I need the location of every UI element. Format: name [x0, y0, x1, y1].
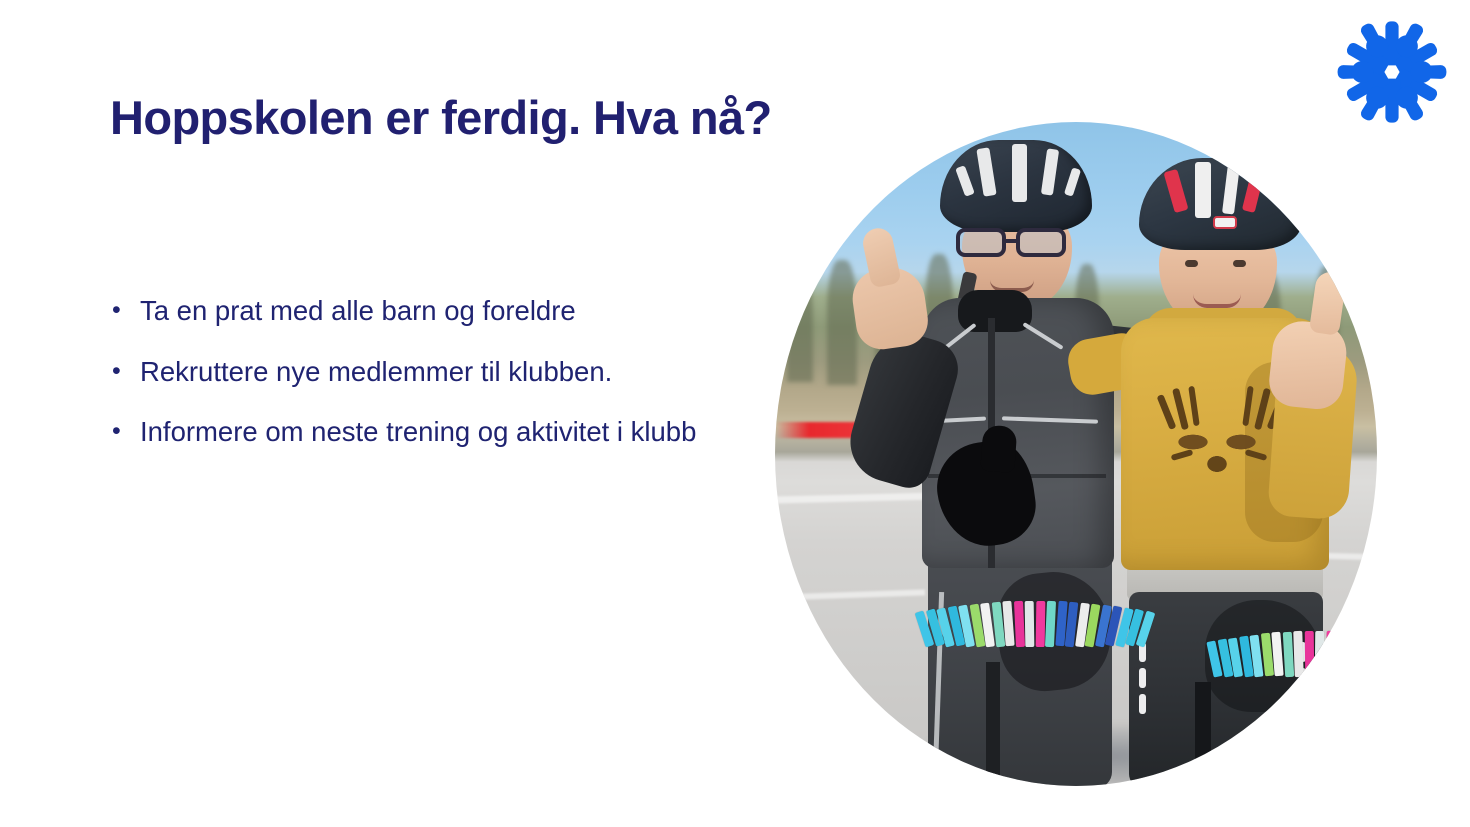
- boy-right-eye: [1185, 260, 1198, 267]
- boy-left-glasses: [954, 228, 1080, 258]
- list-item: • Rekruttere nye medlemmer til klubben.: [106, 355, 726, 390]
- glasses-bridge: [1006, 239, 1018, 243]
- pant-stripe: [1139, 668, 1146, 688]
- clothespin: [1045, 601, 1056, 647]
- helmet-red-accent: [1242, 167, 1265, 213]
- helmet-vent-stripe: [1195, 162, 1211, 218]
- list-item: • Ta en prat med alle barn og foreldre: [106, 294, 726, 329]
- bullet-marker-icon: •: [106, 415, 140, 448]
- helmet-vent-stripe: [976, 147, 996, 196]
- pant-stripe: [1299, 694, 1306, 714]
- list-item: • Informere om neste trening og aktivite…: [106, 415, 726, 450]
- helmet-vent-stripe: [1041, 148, 1059, 195]
- tree-silhouette: [787, 272, 813, 382]
- glasses-lens: [956, 228, 1006, 257]
- clothespin-belt-left: [920, 600, 1151, 647]
- photo-background: [775, 122, 1377, 786]
- clothespin: [1335, 631, 1346, 677]
- helmet-vent-stripe: [1012, 144, 1027, 202]
- clothespin: [1035, 601, 1045, 647]
- boy-right-eye: [1233, 260, 1246, 267]
- boy-right: [1085, 122, 1377, 786]
- boy-left-helmet: [940, 140, 1092, 232]
- helmet-vent-stripe: [955, 165, 975, 197]
- helmet-vent-stripe: [1222, 163, 1240, 214]
- clothespin-belt-right: [1210, 630, 1377, 677]
- helmet-vent-stripe: [1064, 167, 1081, 196]
- list-item-label: Informere om neste trening og aktivitet …: [140, 415, 726, 450]
- helmet-badge: [1213, 216, 1237, 229]
- clothespin: [1025, 601, 1035, 647]
- bullet-marker-icon: •: [106, 294, 140, 327]
- boy-right-legs-gap: [1195, 682, 1211, 786]
- clothespin: [1293, 631, 1304, 677]
- list-item-label: Rekruttere nye medlemmer til klubben.: [140, 355, 726, 390]
- clothespin: [1282, 631, 1293, 677]
- boy-left-legs-gap: [986, 662, 1000, 786]
- pant-stripe: [1139, 694, 1146, 714]
- snowflake-icon: [1326, 6, 1458, 138]
- clothespin: [1013, 601, 1024, 647]
- boy-right-smile: [1193, 294, 1241, 308]
- clothespin: [1304, 631, 1314, 677]
- list-item-label: Ta en prat med alle barn og foreldre: [140, 294, 726, 329]
- helmet-red-accent: [1163, 169, 1188, 213]
- bullet-marker-icon: •: [106, 355, 140, 388]
- bullet-list: • Ta en prat med alle barn og foreldre •…: [106, 294, 726, 450]
- boy-right-fist: [1267, 318, 1350, 411]
- clothespin: [1325, 631, 1336, 677]
- slide-canvas: Hoppskolen er ferdig. Hva nå? • Ta en pr…: [0, 0, 1470, 827]
- clothespin: [1315, 631, 1325, 677]
- two-children-thumbs-up-photo: [775, 122, 1377, 786]
- tree-silhouette: [827, 260, 857, 385]
- glasses-lens: [1016, 228, 1066, 257]
- boy-right-thumbs-up: [1309, 270, 1347, 336]
- boy-right-helmet: [1139, 158, 1301, 250]
